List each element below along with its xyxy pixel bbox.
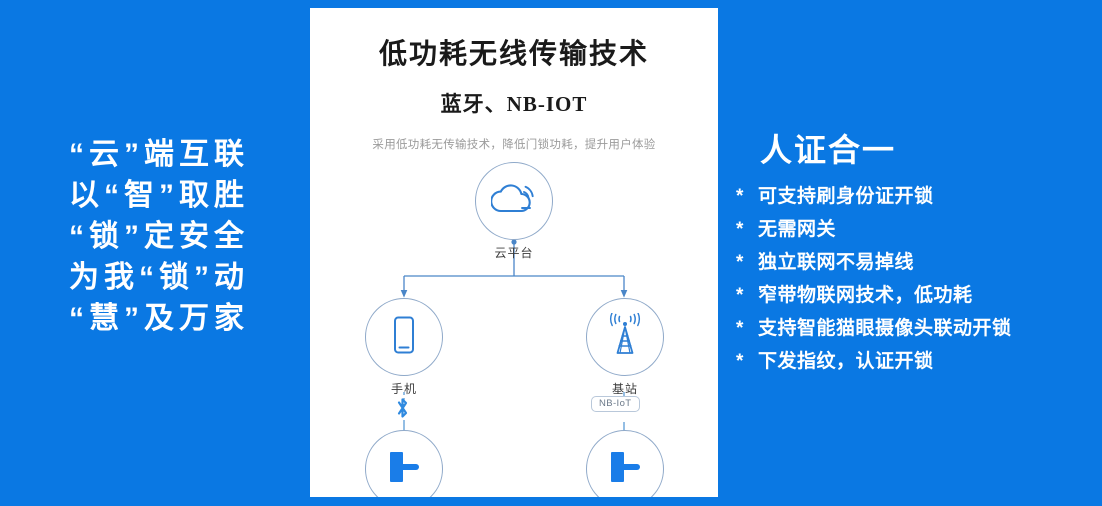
list-item: * 无需网关	[736, 213, 1096, 246]
poster-root: “云”端互联 以“智”取胜 “锁”定安全 为我“锁”动 “慧”及万家 低功耗无线…	[0, 0, 1102, 506]
bullet-text: 可支持刷身份证开锁	[758, 180, 934, 213]
feature-card: 低功耗无线传输技术 蓝牙、NB-IOT 采用低功耗无传输技术，降低门锁功耗，提升…	[310, 8, 718, 497]
card-title: 低功耗无线传输技术	[310, 32, 718, 72]
door-lock-icon	[382, 448, 426, 491]
cloud-wifi-icon	[491, 180, 537, 223]
bullet-marker-icon: *	[736, 345, 758, 378]
diagram-label-phone: 手机	[344, 380, 464, 397]
list-item: * 可支持刷身份证开锁	[736, 180, 1096, 213]
diagram-node-tower[interactable]	[586, 298, 664, 376]
network-diagram: 云平台 手机	[310, 158, 718, 497]
bullet-text: 窄带物联网技术，低功耗	[758, 279, 973, 312]
list-item: * 支持智能猫眼摄像头联动开锁	[736, 312, 1096, 345]
diagram-node-phone[interactable]	[365, 298, 443, 376]
slogan-line-3: “锁”定安全	[28, 216, 290, 257]
slogan-line-1: “云”端互联	[28, 134, 290, 175]
door-lock-icon	[603, 448, 647, 491]
list-item: * 独立联网不易掉线	[736, 246, 1096, 279]
list-item: * 下发指纹，认证开锁	[736, 345, 1096, 378]
bullet-text: 无需网关	[758, 213, 836, 246]
bullet-text: 独立联网不易掉线	[758, 246, 914, 279]
bullet-marker-icon: *	[736, 279, 758, 312]
cell-tower-icon	[602, 313, 648, 362]
diagram-node-lock-right[interactable]	[586, 430, 664, 497]
list-item: * 窄带物联网技术，低功耗	[736, 279, 1096, 312]
diagram-node-cloud[interactable]	[475, 162, 553, 240]
bluetooth-icon	[394, 396, 411, 424]
diagram-label-cloud: 云平台	[454, 244, 574, 261]
right-heading: 人证合一	[760, 128, 1096, 172]
bullet-marker-icon: *	[736, 180, 758, 213]
bullet-marker-icon: *	[736, 213, 758, 246]
card-description: 采用低功耗无传输技术，降低门锁功耗，提升用户体验	[310, 136, 718, 152]
diagram-label-tower: 基站	[565, 380, 685, 397]
slogan-line-4: 为我“锁”动	[28, 257, 290, 298]
slogan-line-2: 以“智”取胜	[28, 175, 290, 216]
right-feature-block: 人证合一 * 可支持刷身份证开锁 * 无需网关 * 独立联网不易掉线 * 窄带物…	[736, 128, 1096, 378]
bullet-marker-icon: *	[736, 312, 758, 345]
bullet-text: 下发指纹，认证开锁	[758, 345, 934, 378]
bullet-marker-icon: *	[736, 246, 758, 279]
feature-bullet-list: * 可支持刷身份证开锁 * 无需网关 * 独立联网不易掉线 * 窄带物联网技术，…	[736, 180, 1096, 378]
left-slogan-block: “云”端互联 以“智”取胜 “锁”定安全 为我“锁”动 “慧”及万家	[28, 134, 290, 339]
smartphone-icon	[391, 315, 417, 360]
nbiot-link-badge: NB-IoT	[591, 396, 640, 412]
card-subtitle: 蓝牙、NB-IOT	[310, 88, 718, 118]
slogan-line-5: “慧”及万家	[28, 298, 290, 339]
bullet-text: 支持智能猫眼摄像头联动开锁	[758, 312, 1012, 345]
diagram-node-lock-left[interactable]	[365, 430, 443, 497]
